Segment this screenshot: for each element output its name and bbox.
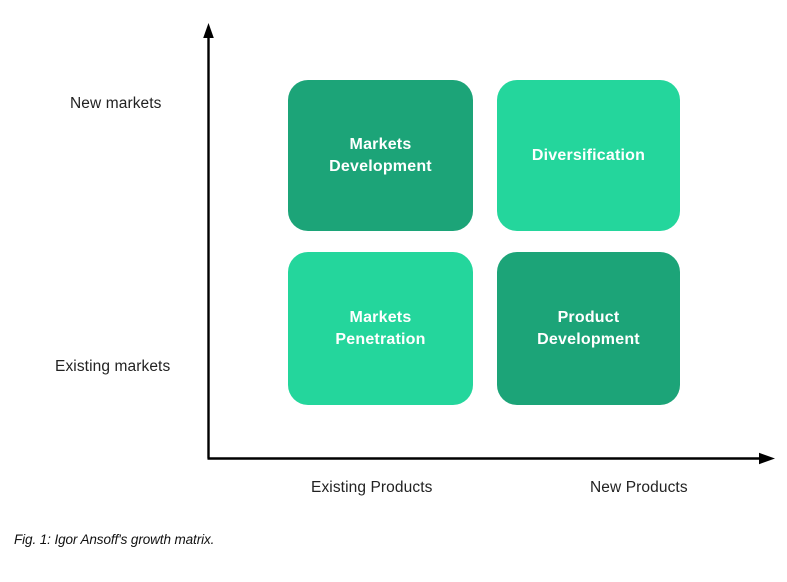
y-axis-label-new-markets: New markets [70,95,162,113]
quadrant-label-product-development: Product Development [537,307,640,349]
quadrant-diversification[interactable]: Diversification [497,80,680,231]
y-axis-label-existing-markets: Existing markets [55,358,170,376]
y-axis-arrowhead [203,23,214,38]
x-axis-label-new-products: New Products [590,479,688,497]
quadrant-markets-development[interactable]: Markets Development [288,80,473,231]
figure-caption: Fig. 1: Igor Ansoff's growth matrix. [14,532,214,547]
ansoff-matrix-figure: New markets Existing markets Existing Pr… [0,0,787,582]
quadrant-product-development[interactable]: Product Development [497,252,680,405]
x-axis-arrowhead [759,453,775,464]
quadrant-label-diversification: Diversification [532,145,645,166]
quadrant-label-markets-development: Markets Development [329,134,432,176]
quadrant-label-markets-penetration: Markets Penetration [335,307,425,349]
x-axis-label-existing-products: Existing Products [311,479,432,497]
quadrant-markets-penetration[interactable]: Markets Penetration [288,252,473,405]
matrix-quadrant-grid: Markets Development Diversification Mark… [288,80,680,405]
